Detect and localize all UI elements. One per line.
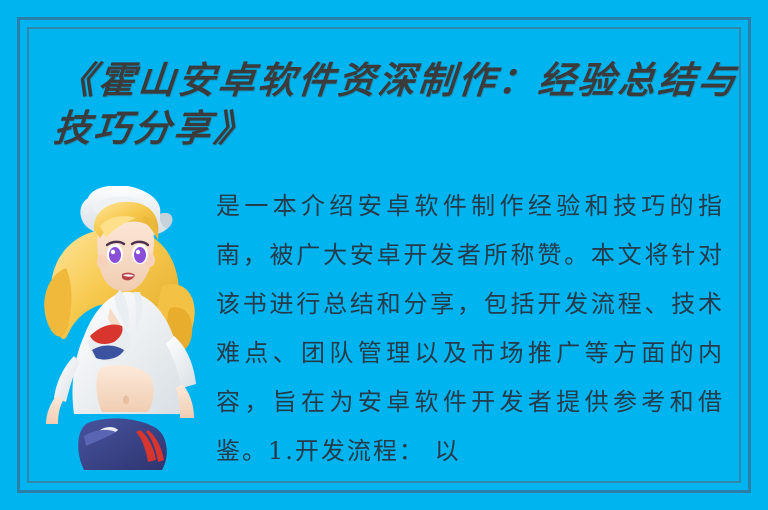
illustration-shorts	[78, 418, 167, 470]
page-title: 《霍山安卓软件资深制作：经验总结与技巧分享》	[52, 56, 740, 152]
anime-girl-illustration	[44, 186, 196, 470]
article-body-text: 是一本介绍安卓软件制作经验和技巧的指南，被广大安卓开发者所称赞。本文将针对该书进…	[216, 182, 724, 476]
poster-canvas: 《霍山安卓软件资深制作：经验总结与技巧分享》	[0, 0, 768, 510]
